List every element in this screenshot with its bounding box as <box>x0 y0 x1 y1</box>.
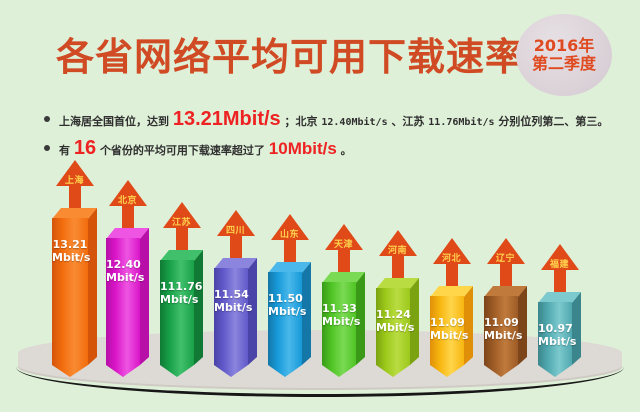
pillar-河南 <box>376 278 419 377</box>
bar-山东: 山东11.50Mbit/s <box>268 214 311 377</box>
pillar-河北 <box>430 286 473 377</box>
pillar-front-face <box>52 218 88 377</box>
province-label-上海: 上海 <box>57 173 93 186</box>
bar-上海: 上海13.21Mbit/s <box>52 160 97 377</box>
province-label-河南: 河南 <box>381 243 415 256</box>
province-label-北京: 北京 <box>111 193 145 206</box>
pillar-side-face <box>518 286 527 377</box>
province-label-江苏: 江苏 <box>165 215 199 228</box>
pillar-side-face <box>572 292 581 377</box>
bar-辽宁: 辽宁11.09Mbit/s <box>484 238 527 377</box>
pillar-front-face <box>430 296 464 377</box>
pillar-四川 <box>214 258 257 377</box>
pillar-front-face <box>484 296 518 377</box>
pillar-福建 <box>538 292 581 377</box>
bar-河南: 河南11.24Mbit/s <box>376 230 419 377</box>
bar-江苏: 江苏111.76Mbit/s <box>160 202 203 377</box>
bar-河北: 河北11.09Mbit/s <box>430 238 473 377</box>
pillar-front-face <box>160 260 194 377</box>
pillar-side-face <box>194 250 203 377</box>
province-label-辽宁: 辽宁 <box>489 251 523 264</box>
bar-四川: 四川11.54Mbit/s <box>214 210 257 377</box>
pillar-北京 <box>106 228 149 377</box>
pillar-天津 <box>322 272 365 377</box>
pillar-山东 <box>268 262 311 377</box>
pillar-front-face <box>106 238 140 377</box>
pillar-辽宁 <box>484 286 527 377</box>
bar-北京: 北京12.40Mbit/s <box>106 180 149 377</box>
bar-chart: 上海13.21Mbit/s北京12.40Mbit/s江苏111.76Mbit/s… <box>0 0 640 412</box>
pillar-side-face <box>356 272 365 377</box>
province-label-福建: 福建 <box>543 257 577 270</box>
pillar-side-face <box>88 208 97 377</box>
infographic-canvas: 各省网络平均可用下载速率 2016年 第二季度 上海居全国首位，达到 13.21… <box>0 0 640 412</box>
province-label-河北: 河北 <box>435 251 469 264</box>
pillar-side-face <box>248 258 257 377</box>
pillar-front-face <box>214 268 248 377</box>
pillar-side-face <box>140 228 149 377</box>
province-label-山东: 山东 <box>273 227 307 240</box>
pillar-front-face <box>268 272 302 377</box>
province-label-天津: 天津 <box>327 237 361 250</box>
pillar-front-face <box>376 288 410 377</box>
pillar-front-face <box>538 302 572 377</box>
bar-福建: 福建10.97Mbit/s <box>538 244 581 377</box>
pillar-side-face <box>302 262 311 377</box>
pillar-side-face <box>410 278 419 377</box>
pillar-上海 <box>52 208 97 377</box>
bar-天津: 天津11.33Mbit/s <box>322 224 365 377</box>
pillar-front-face <box>322 282 356 377</box>
pillar-江苏 <box>160 250 203 377</box>
province-label-四川: 四川 <box>219 223 253 236</box>
pillar-side-face <box>464 286 473 377</box>
